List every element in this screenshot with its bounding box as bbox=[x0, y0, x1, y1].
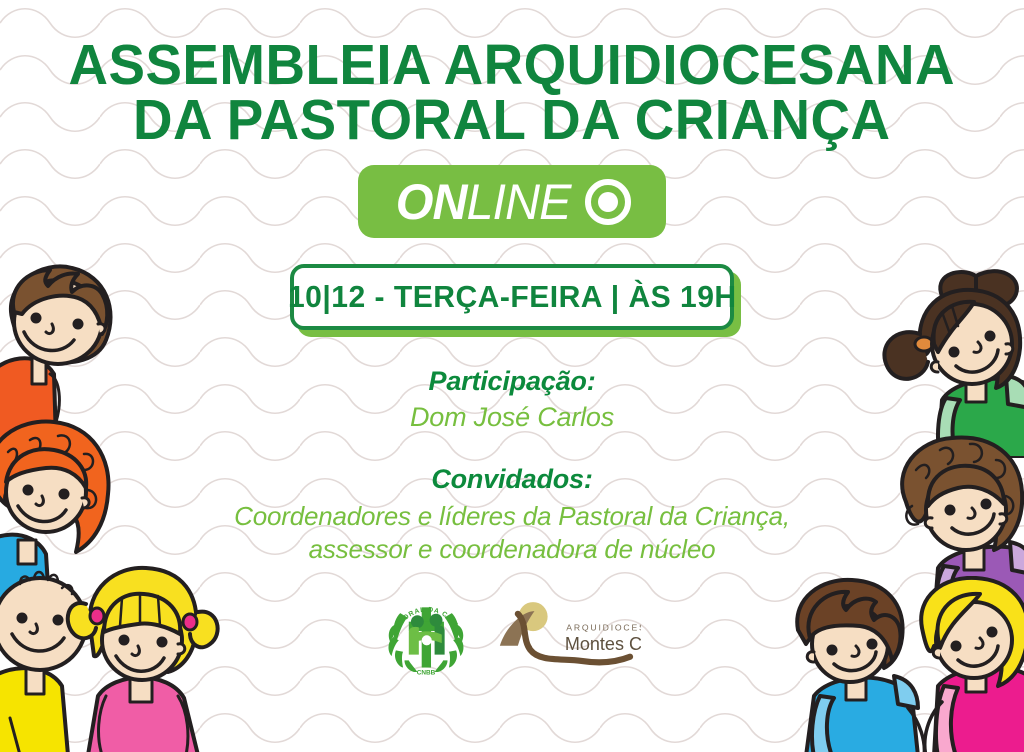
record-circle-icon bbox=[585, 179, 631, 225]
illustration-children-left-bottom-pair bbox=[0, 560, 230, 752]
date-box: 10|12 - TERÇA-FEIRA | ÀS 19H bbox=[290, 264, 734, 330]
online-word-line: LINE bbox=[466, 174, 570, 230]
montes-claros-line-2: Montes Claros bbox=[565, 633, 641, 653]
pastoral-logo-cnbb-text: CNBB bbox=[417, 669, 436, 676]
guests-label: Convidados: bbox=[234, 464, 790, 496]
online-badge-label: ONLINE bbox=[396, 177, 571, 227]
pastoral-da-crianca-logo: PASTORAL DA CRIANÇA CNBB bbox=[383, 593, 469, 679]
poster-content: ASSEMBLEIA ARQUIDIOCESANA DA PASTORAL DA… bbox=[0, 0, 1024, 752]
participation-block: Participação: Dom José Carlos bbox=[410, 366, 614, 434]
title-line-1: ASSEMBLEIA ARQUIDIOCESANA bbox=[69, 38, 956, 93]
poster-canvas: ASSEMBLEIA ARQUIDIOCESANA DA PASTORAL DA… bbox=[0, 0, 1024, 752]
guests-value-line-1: Coordenadores e líderes da Pastoral da C… bbox=[234, 500, 790, 533]
illustration-child-girl-dark-pigtails-green-shirt bbox=[880, 268, 1024, 458]
illustration-children-right-bottom-pair bbox=[788, 576, 1024, 752]
date-box-frame: 10|12 - TERÇA-FEIRA | ÀS 19H bbox=[290, 264, 734, 330]
illustration-child-girl-red-hair-blue-shirt bbox=[0, 418, 144, 618]
guests-block: Convidados: Coordenadores e líderes da P… bbox=[234, 464, 790, 566]
montes-claros-line-1: ARQUIDIOCESE DE bbox=[566, 622, 641, 632]
participation-value: Dom José Carlos bbox=[410, 402, 614, 434]
illustration-child-girl-curly-brown-hair-purple-shirt bbox=[882, 430, 1024, 620]
online-word-on: ON bbox=[396, 174, 467, 230]
participation-label: Participação: bbox=[410, 366, 614, 398]
online-badge: ONLINE bbox=[358, 165, 666, 238]
date-text: 10|12 - TERÇA-FEIRA | ÀS 19H bbox=[288, 279, 737, 315]
illustration-child-boy-brown-hair-orange-shirt bbox=[0, 262, 144, 442]
arquidiocese-montes-claros-logo: ARQUIDIOCESE DE Montes Claros bbox=[493, 600, 641, 672]
guests-value-line-2: assessor e coordenadora de núcleo bbox=[234, 533, 790, 566]
logo-row: PASTORAL DA CRIANÇA CNBB ARQUIDIOCESE DE… bbox=[383, 593, 641, 679]
page-title: ASSEMBLEIA ARQUIDIOCESANA DA PASTORAL DA… bbox=[50, 38, 974, 147]
title-line-2: DA PASTORAL DA CRIANÇA bbox=[69, 93, 956, 148]
